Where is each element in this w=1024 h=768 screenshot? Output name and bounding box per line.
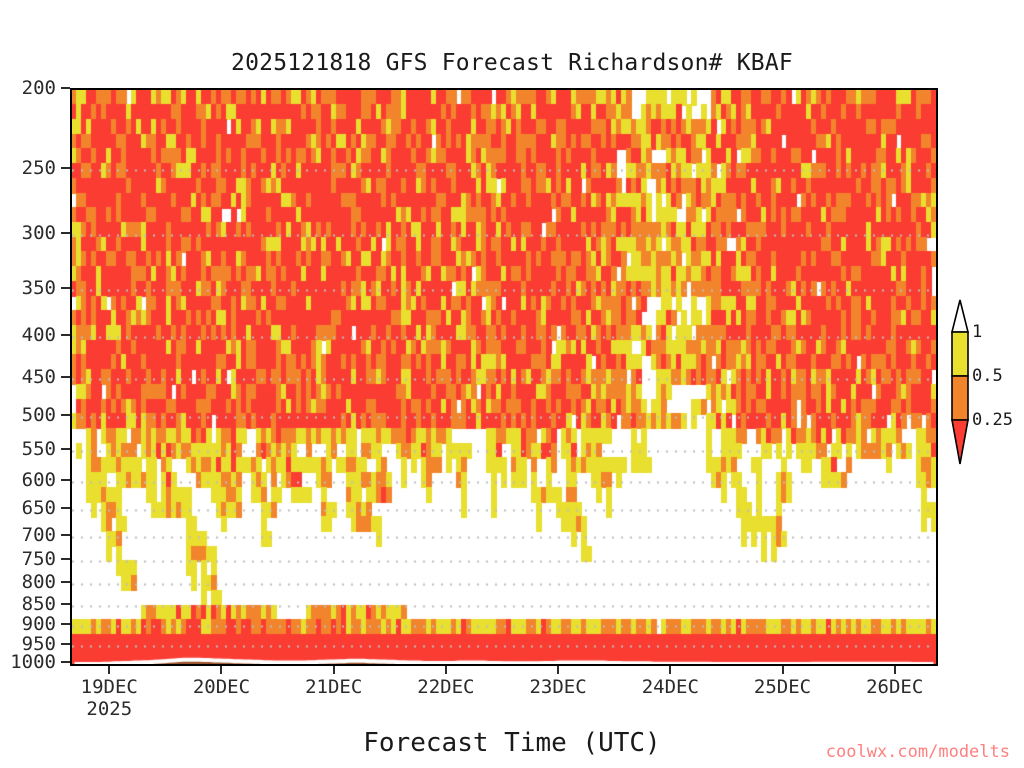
y-tick-mark-450	[61, 376, 70, 378]
y-tick-label-550: 550	[22, 438, 56, 460]
x-tick-label-19DEC: 19DEC	[81, 676, 138, 698]
x-tick-label-24DEC: 24DEC	[642, 676, 699, 698]
colorbar-legend: 1 0.5 0.25	[938, 296, 1024, 472]
x-tick-mark-26DEC	[894, 666, 896, 674]
x-tick-mark-19DEC	[108, 666, 110, 674]
y-tick-label-1000: 1000	[10, 651, 56, 673]
y-axis: 2002503003504004505005506006507007508008…	[0, 88, 70, 666]
x-tick-mark-23DEC	[557, 666, 559, 674]
y-tick-label-350: 350	[22, 277, 56, 299]
y-tick-mark-500	[61, 414, 70, 416]
y-tick-mark-300	[61, 232, 70, 234]
x-tick-label-25DEC: 25DEC	[754, 676, 811, 698]
y-tick-label-800: 800	[22, 571, 56, 593]
y-tick-label-850: 850	[22, 593, 56, 615]
colorbar-tick-0p5: 0.5	[972, 366, 1003, 386]
y-tick-label-600: 600	[22, 469, 56, 491]
x-tick-mark-20DEC	[220, 666, 222, 674]
x-tick-label-23DEC: 23DEC	[529, 676, 586, 698]
y-tick-mark-250	[61, 167, 70, 169]
y-tick-label-700: 700	[22, 524, 56, 546]
y-tick-label-650: 650	[22, 497, 56, 519]
y-tick-mark-950	[61, 643, 70, 645]
colorbar-segment-orange	[952, 376, 968, 420]
y-tick-label-300: 300	[22, 222, 56, 244]
y-tick-mark-800	[61, 581, 70, 583]
y-tick-mark-1000	[61, 661, 70, 663]
y-tick-mark-900	[61, 623, 70, 625]
colorbar-segment-red	[952, 420, 968, 464]
watermark: coolwx.com/modelts	[826, 742, 1010, 762]
x-tick-label-26DEC: 26DEC	[866, 676, 923, 698]
y-tick-mark-400	[61, 334, 70, 336]
y-tick-mark-650	[61, 507, 70, 509]
x-tick-mark-24DEC	[669, 666, 671, 674]
x-tick-mark-25DEC	[782, 666, 784, 674]
y-tick-label-250: 250	[22, 157, 56, 179]
page-title: 2025121818 GFS Forecast Richardson# KBAF	[0, 50, 1024, 76]
x-tick-mark-21DEC	[333, 666, 335, 674]
x-tick-label-20DEC: 20DEC	[193, 676, 250, 698]
x-tick-label-21DEC: 21DEC	[305, 676, 362, 698]
y-tick-mark-600	[61, 479, 70, 481]
y-tick-label-500: 500	[22, 404, 56, 426]
y-tick-mark-850	[61, 603, 70, 605]
x-tick-mark-22DEC	[445, 666, 447, 674]
heatmap-canvas	[72, 90, 936, 664]
colorbar-tick-0p25: 0.25	[972, 410, 1013, 430]
colorbar-segment-above-1	[952, 300, 968, 332]
y-tick-mark-350	[61, 287, 70, 289]
x-tick-sublabel-year: 2025	[86, 698, 132, 720]
y-tick-label-400: 400	[22, 324, 56, 346]
plot-area	[70, 88, 938, 666]
y-tick-label-450: 450	[22, 366, 56, 388]
richardson-number-forecast-chart: 2025121818 GFS Forecast Richardson# KBAF…	[0, 0, 1024, 768]
y-tick-label-750: 750	[22, 548, 56, 570]
x-axis: 19DEC202520DEC21DEC22DEC23DEC24DEC25DEC2…	[70, 666, 938, 726]
y-tick-mark-200	[61, 87, 70, 89]
y-tick-mark-550	[61, 448, 70, 450]
y-tick-label-200: 200	[22, 77, 56, 99]
y-tick-mark-750	[61, 558, 70, 560]
colorbar-segment-yellow	[952, 332, 968, 376]
x-tick-label-22DEC: 22DEC	[417, 676, 474, 698]
colorbar-tick-1: 1	[972, 322, 982, 342]
y-tick-mark-700	[61, 534, 70, 536]
